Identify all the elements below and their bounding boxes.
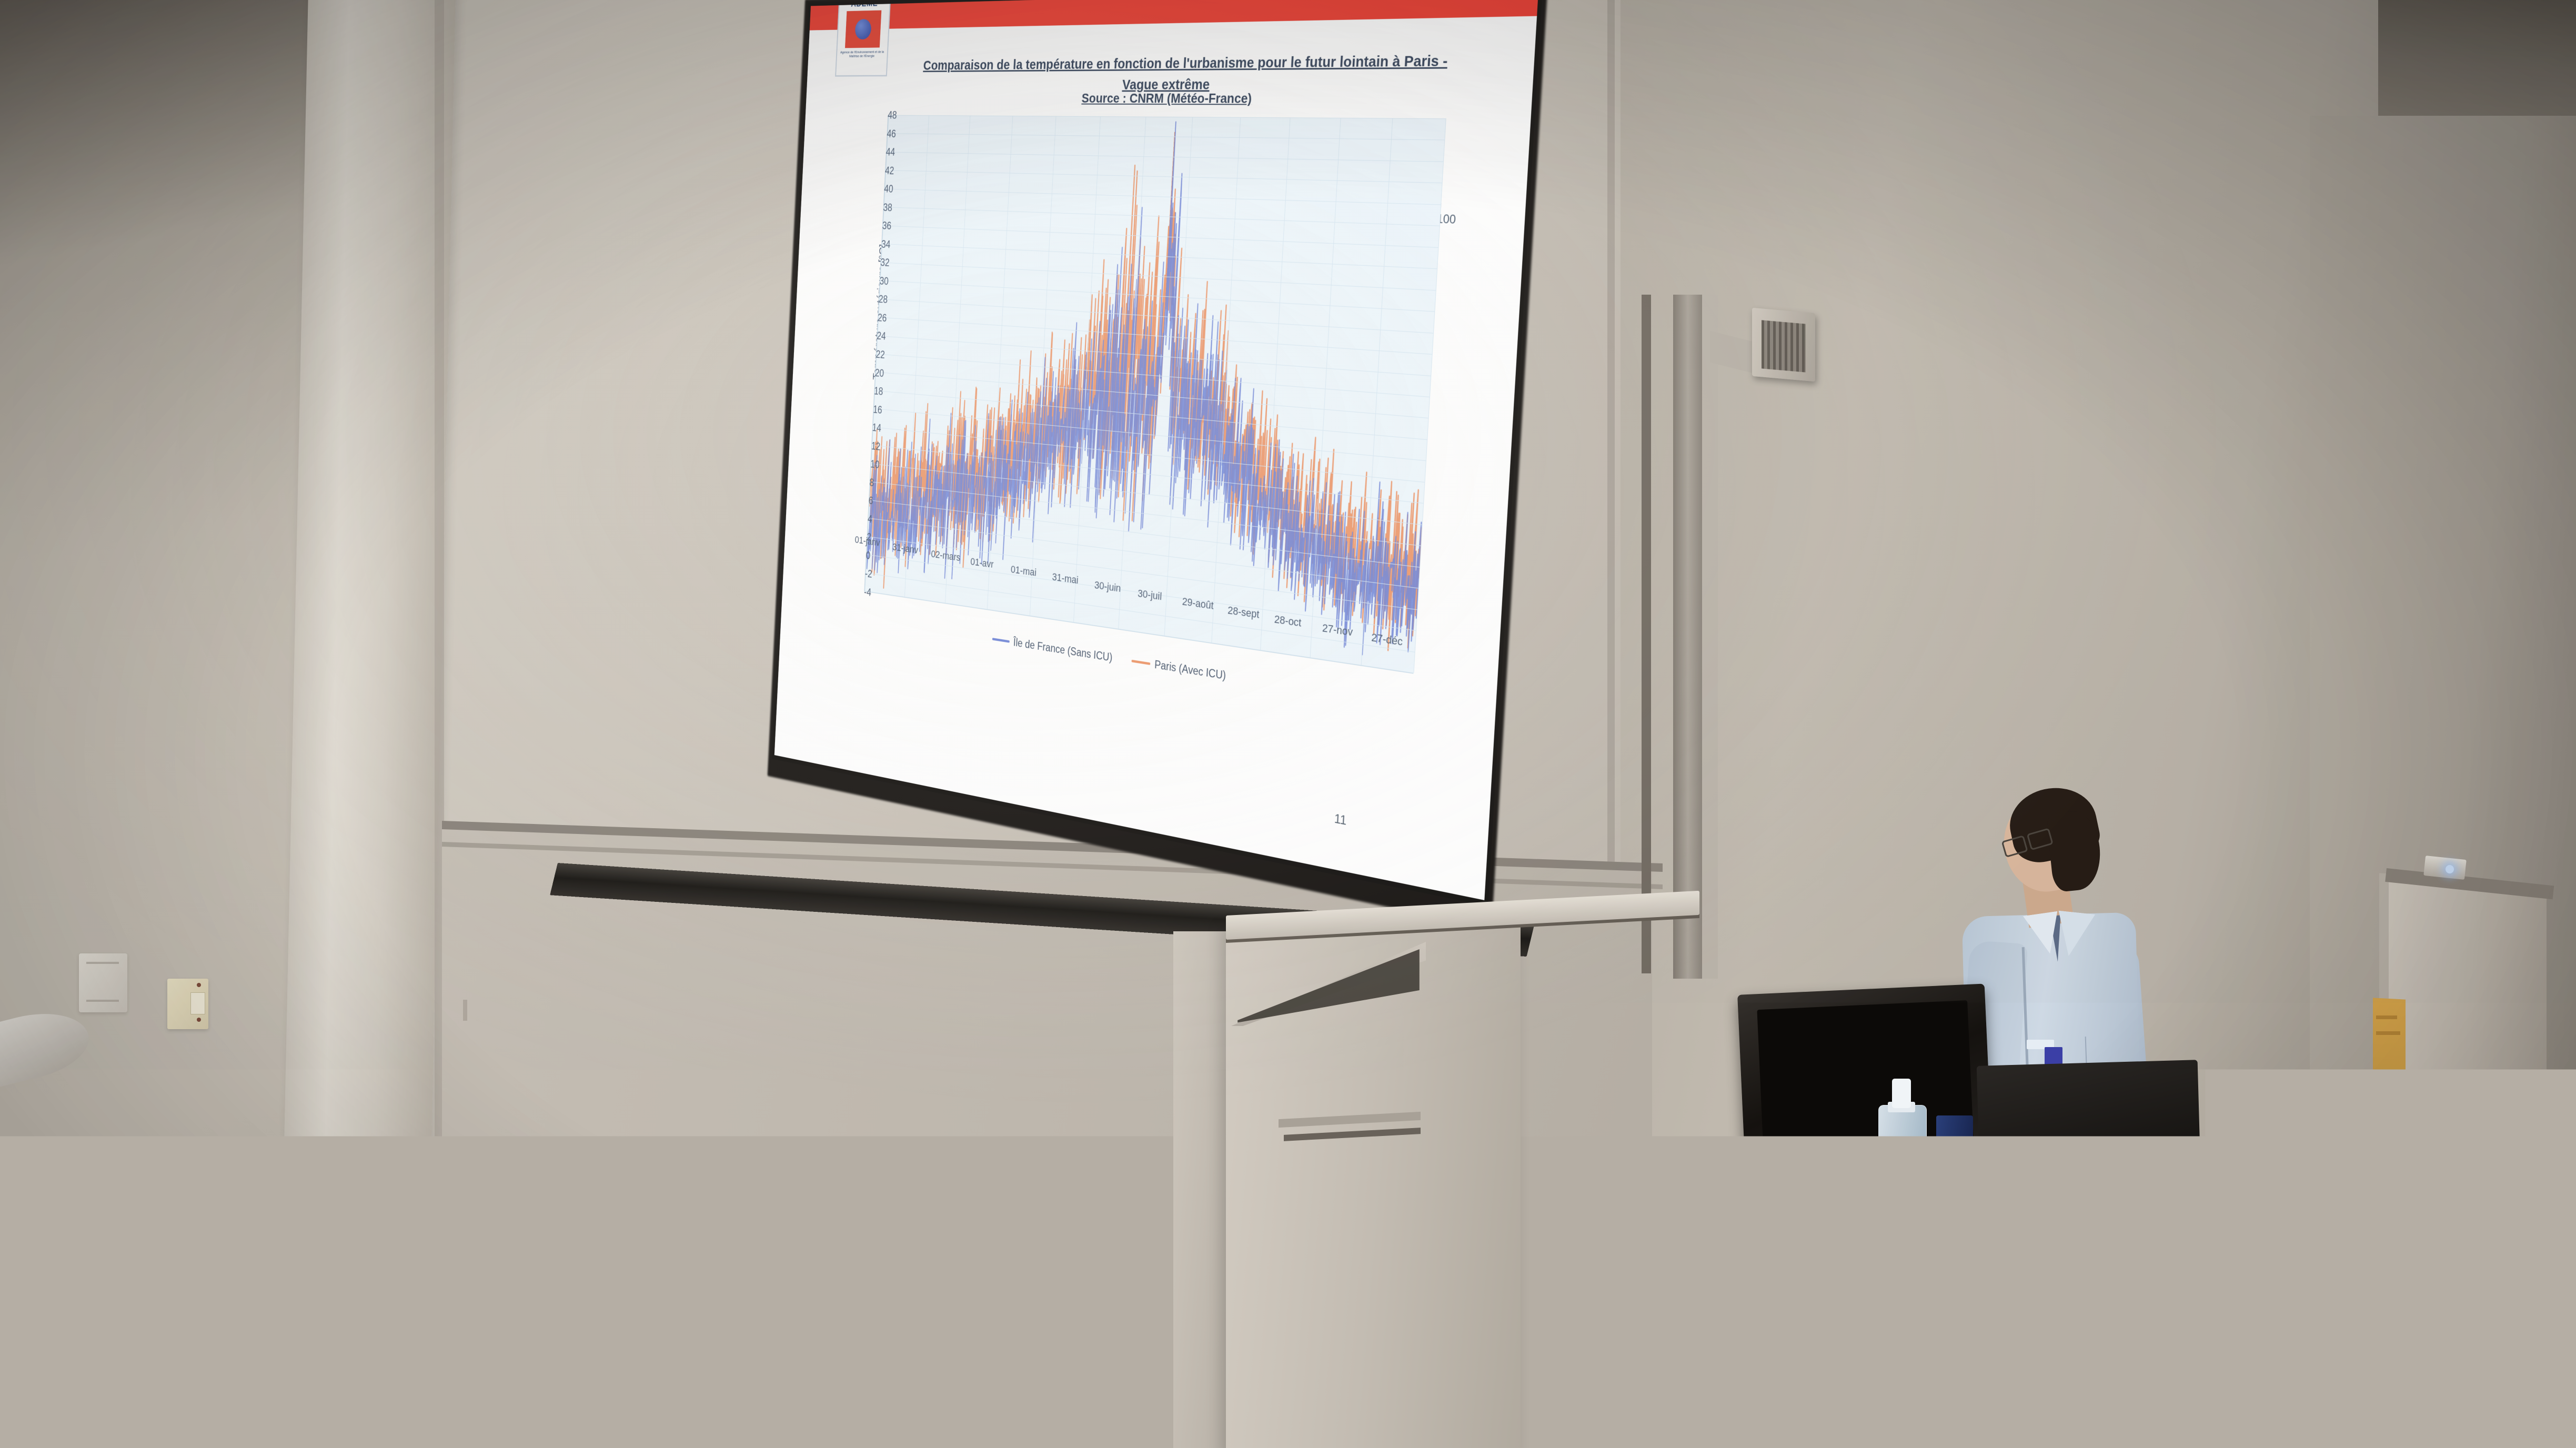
- y-axis-tick: 34: [881, 238, 882, 250]
- y-axis-tick: -4: [864, 586, 864, 597]
- y-axis-tick: 24: [877, 330, 877, 342]
- legend-label: Paris (Avec ICU): [1154, 658, 1226, 682]
- y-axis-tick: 16: [873, 403, 873, 415]
- y-axis-tick: 40: [884, 183, 884, 195]
- y-axis-tick: 32: [880, 256, 881, 268]
- exit-sign-led: [2446, 865, 2454, 873]
- scene-photo: ADEME Agence de l'Environnement et de la…: [0, 0, 2576, 1448]
- lectern: [1226, 926, 1521, 1448]
- poster-line: [2376, 1031, 2400, 1035]
- slide-source: Source : CNRM (Météo-France): [920, 91, 1447, 107]
- legend-swatch: [992, 638, 1010, 643]
- slide: ADEME Agence de l'Environnement et de la…: [774, 0, 1539, 900]
- y-axis-tick: 26: [878, 311, 878, 324]
- sanitizer-brand: Bactigel: [1880, 1146, 1924, 1158]
- y-axis-tick: 20: [874, 367, 875, 379]
- light-switch[interactable]: [79, 953, 127, 1012]
- y-axis-tick: 12: [871, 440, 872, 452]
- left-pillar: [281, 0, 456, 1294]
- globe-icon: [854, 19, 871, 39]
- poster-line: [2376, 1015, 2397, 1019]
- wall-control-panel[interactable]: [167, 979, 208, 1029]
- y-axis-tick: 18: [874, 385, 874, 397]
- sanitizer-pump[interactable]: [1892, 1079, 1911, 1108]
- laptop-lid[interactable]: [1977, 1060, 2201, 1192]
- wall-column: [1673, 295, 1703, 979]
- slide-page-number: 11: [1334, 811, 1347, 829]
- y-axis-tick: 38: [883, 201, 883, 213]
- y-axis-tick: 6: [868, 495, 869, 507]
- desk-door-seam: [1973, 1231, 1978, 1310]
- temperature-chart: Température extérieure [°C] 484644424038…: [840, 115, 1446, 745]
- poster-line: [2376, 1100, 2396, 1106]
- y-axis-tick: 0: [866, 549, 866, 561]
- sanitizer-label: Bactigel: [1880, 1146, 1924, 1176]
- poster-line: [2376, 1113, 2394, 1119]
- y-axis-tick: 44: [885, 146, 886, 158]
- legend-item: Île de France (Sans ICU): [992, 633, 1112, 665]
- ademe-tagline: Agence de l'Environnement et de la Maîtr…: [840, 49, 884, 58]
- ademe-logo: ADEME Agence de l'Environnement et de la…: [835, 0, 891, 77]
- y-axis-tick: 4: [868, 513, 868, 525]
- y-axis-tick: 36: [882, 219, 882, 232]
- y-axis-tick: -2: [864, 567, 865, 579]
- wall-column: [1702, 295, 1718, 979]
- y-axis-tick: 42: [885, 164, 885, 176]
- wall-speaker-grill: [1762, 320, 1806, 372]
- y-axis-tick: 14: [872, 421, 872, 434]
- power-outlet[interactable]: [1698, 1265, 1731, 1298]
- slide-title: Comparaison de la température en fonctio…: [921, 50, 1450, 95]
- cable: [2215, 1221, 2243, 1448]
- y-axis-tick: 28: [878, 293, 879, 305]
- screen-surface: ADEME Agence de l'Environnement et de la…: [774, 0, 1539, 900]
- projector-mount-arm: [1642, 295, 1651, 973]
- whiteboard-mark: [463, 1000, 467, 1021]
- y-axis-tick: 22: [876, 348, 876, 360]
- y-axis-tick: 10: [870, 458, 871, 470]
- desk-accessory: [1936, 1115, 1973, 1179]
- y-axis-tick: 46: [887, 127, 887, 139]
- ademe-emblem: [845, 11, 881, 48]
- legend-label: Île de France (Sans ICU): [1013, 636, 1112, 665]
- projection-screen: ADEME Agence de l'Environnement et de la…: [771, 0, 1543, 906]
- y-axis-tick: 30: [879, 275, 880, 287]
- cable: [1820, 1226, 1866, 1448]
- sanitizer-label-stripe: [1880, 1159, 1924, 1171]
- y-axis-tick: 8: [869, 476, 870, 488]
- power-outlet[interactable]: [1736, 1265, 1769, 1298]
- lectern-side: [1173, 931, 1231, 1448]
- hand-sanitizer-bottle[interactable]: Bactigel: [1878, 1079, 1926, 1200]
- legend-swatch: [1132, 660, 1151, 665]
- y-axis-tick: 48: [888, 109, 888, 121]
- exit-sign: [2423, 856, 2467, 880]
- legend-item: Paris (Avec ICU): [1131, 655, 1226, 682]
